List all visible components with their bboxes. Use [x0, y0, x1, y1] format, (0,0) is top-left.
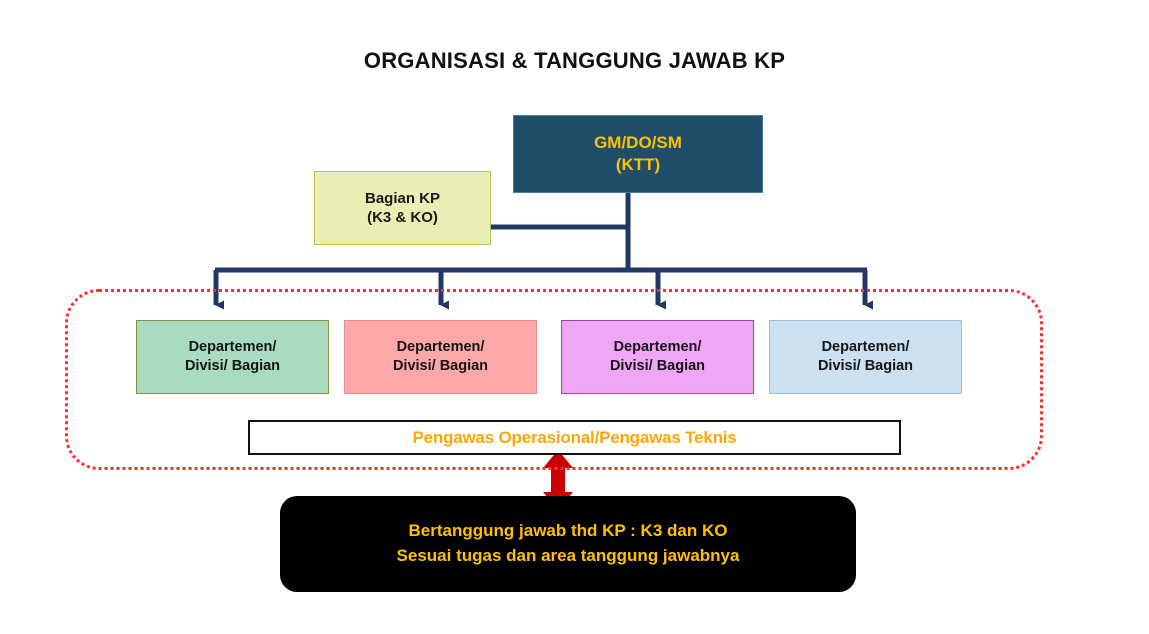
responsibility-box-line-1: Bertanggung jawab thd KP : K3 dan KO — [409, 519, 728, 544]
department-box-1[interactable]: Departemen/ Divisi/ Bagian — [136, 320, 329, 394]
bagian-kp-box-line-1: Bagian KP — [365, 189, 440, 208]
department-box-2[interactable]: Departemen/ Divisi/ Bagian — [344, 320, 537, 394]
pengawas-bar-label: Pengawas Operasional/Pengawas Teknis — [412, 427, 736, 449]
page-title: ORGANISASI & TANGGUNG JAWAB KP — [0, 48, 1149, 74]
diagram-canvas: ORGANISASI & TANGGUNG JAWAB KP — [0, 0, 1149, 634]
department-box-4-line-1: Departemen/ — [822, 338, 910, 357]
department-box-3[interactable]: Departemen/ Divisi/ Bagian — [561, 320, 754, 394]
department-box-2-line-2: Divisi/ Bagian — [393, 357, 488, 376]
department-box-1-line-1: Departemen/ — [189, 338, 277, 357]
bagian-kp-box[interactable]: Bagian KP (K3 & KO) — [314, 171, 491, 245]
department-box-1-line-2: Divisi/ Bagian — [185, 357, 280, 376]
executive-box-line-2: (KTT) — [616, 154, 660, 176]
department-box-4[interactable]: Departemen/ Divisi/ Bagian — [769, 320, 962, 394]
department-box-3-line-1: Departemen/ — [614, 338, 702, 357]
responsibility-box-line-2: Sesuai tugas dan area tanggung jawabnya — [397, 544, 740, 569]
bagian-kp-box-line-2: (K3 & KO) — [367, 208, 438, 227]
department-box-2-line-1: Departemen/ — [397, 338, 485, 357]
executive-box-line-1: GM/DO/SM — [594, 132, 682, 154]
executive-box[interactable]: GM/DO/SM (KTT) — [513, 115, 763, 193]
pengawas-bar[interactable]: Pengawas Operasional/Pengawas Teknis — [248, 420, 901, 455]
department-box-4-line-2: Divisi/ Bagian — [818, 357, 913, 376]
responsibility-box[interactable]: Bertanggung jawab thd KP : K3 dan KO Ses… — [280, 496, 856, 592]
department-box-3-line-2: Divisi/ Bagian — [610, 357, 705, 376]
